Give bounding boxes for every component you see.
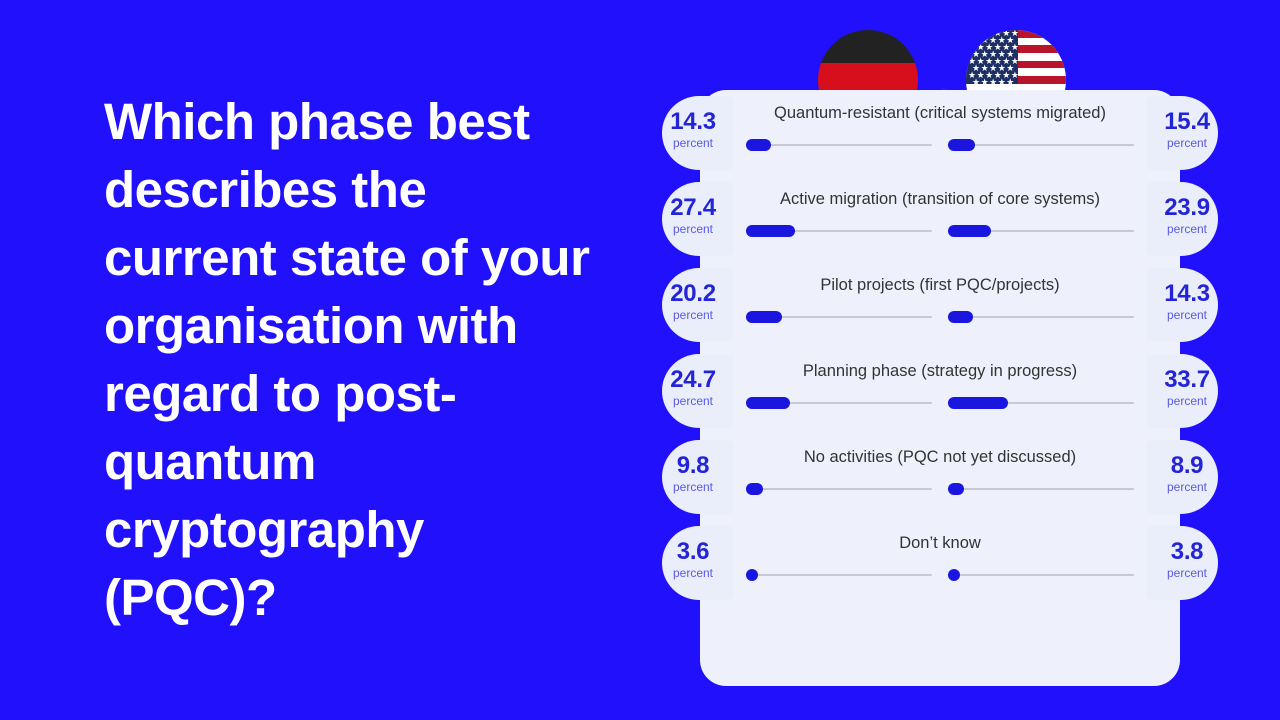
usa-percent-unit: percent xyxy=(1146,565,1218,581)
result-row: 9.8percent8.9percentNo activities (PQC n… xyxy=(700,434,1180,520)
usa-slider[interactable] xyxy=(948,397,1134,409)
result-row: 20.2percent14.3percentPilot projects (fi… xyxy=(700,262,1180,348)
germany-slider-fill[interactable] xyxy=(746,311,782,323)
usa-percent-badge: 3.8percent xyxy=(1146,526,1218,600)
usa-slider[interactable] xyxy=(948,569,1134,581)
germany-slider-fill[interactable] xyxy=(746,139,771,151)
usa-slider-fill[interactable] xyxy=(948,225,991,237)
germany-slider[interactable] xyxy=(746,139,932,151)
usa-slider[interactable] xyxy=(948,311,1134,323)
results-row-list: 14.3percent15.4percentQuantum-resistant … xyxy=(700,90,1180,606)
card-edge-notch xyxy=(1180,170,1218,182)
slider-pair xyxy=(746,483,1134,495)
germany-percent-badge: 27.4percent xyxy=(662,182,734,256)
card-edge-notch xyxy=(1180,256,1218,268)
usa-percent-value: 15.4 xyxy=(1146,110,1218,134)
germany-percent-unit: percent xyxy=(662,393,734,409)
usa-slider-track xyxy=(948,488,1134,490)
answer-label: No activities (PQC not yet discussed) xyxy=(746,446,1134,468)
germany-percent-badge: 9.8percent xyxy=(662,440,734,514)
germany-percent-unit: percent xyxy=(662,307,734,323)
germany-slider-fill[interactable] xyxy=(746,397,790,409)
usa-percent-badge: 14.3percent xyxy=(1146,268,1218,342)
germany-slider[interactable] xyxy=(746,225,932,237)
card-edge-notch xyxy=(1180,514,1218,526)
page-title: Which phase best describes the current s… xyxy=(104,88,604,632)
usa-percent-unit: percent xyxy=(1146,479,1218,495)
usa-slider[interactable] xyxy=(948,139,1134,151)
usa-percent-badge: 15.4percent xyxy=(1146,96,1218,170)
germany-percent-value: 14.3 xyxy=(662,110,734,134)
germany-slider-track xyxy=(746,488,932,490)
card-edge-notch xyxy=(662,428,700,440)
usa-percent-badge: 23.9percent xyxy=(1146,182,1218,256)
slider-pair xyxy=(746,139,1134,151)
usa-percent-value: 23.9 xyxy=(1146,196,1218,220)
card-edge-notch xyxy=(662,342,700,354)
germany-slider-fill[interactable] xyxy=(746,225,795,237)
slider-pair xyxy=(746,397,1134,409)
germany-percent-badge: 24.7percent xyxy=(662,354,734,428)
usa-slider[interactable] xyxy=(948,225,1134,237)
germany-slider[interactable] xyxy=(746,569,932,581)
usa-slider-track xyxy=(948,316,1134,318)
germany-percent-badge: 14.3percent xyxy=(662,96,734,170)
result-row: 3.6percent3.8percentDon’t know xyxy=(700,520,1180,606)
result-row: 27.4percent23.9percentActive migration (… xyxy=(700,176,1180,262)
usa-slider-fill[interactable] xyxy=(948,483,964,495)
result-row: 24.7percent33.7percentPlanning phase (st… xyxy=(700,348,1180,434)
germany-percent-value: 20.2 xyxy=(662,282,734,306)
germany-slider-track xyxy=(746,574,932,576)
usa-slider-fill[interactable] xyxy=(948,311,973,323)
usa-flag-canton: ★★★★★★ ★★★★★ ★★★★★★ ★★★★★ ★★★★★★ ★★★★★ ★… xyxy=(966,30,1018,84)
germany-percent-unit: percent xyxy=(662,565,734,581)
germany-flag-black-band xyxy=(818,30,918,63)
usa-percent-unit: percent xyxy=(1146,221,1218,237)
usa-percent-value: 8.9 xyxy=(1146,454,1218,478)
answer-label: Pilot projects (first PQC/projects) xyxy=(746,274,1134,296)
slider-pair xyxy=(746,225,1134,237)
usa-percent-value: 14.3 xyxy=(1146,282,1218,306)
usa-percent-unit: percent xyxy=(1146,307,1218,323)
card-edge-notch xyxy=(662,256,700,268)
usa-slider[interactable] xyxy=(948,483,1134,495)
germany-slider-fill[interactable] xyxy=(746,483,763,495)
germany-percent-badge: 20.2percent xyxy=(662,268,734,342)
germany-slider-track xyxy=(746,144,932,146)
usa-percent-value: 3.8 xyxy=(1146,540,1218,564)
slider-pair xyxy=(746,569,1134,581)
answer-label: Quantum-resistant (critical systems migr… xyxy=(746,102,1134,124)
germany-percent-unit: percent xyxy=(662,479,734,495)
card-edge-notch xyxy=(662,170,700,182)
usa-percent-unit: percent xyxy=(1146,135,1218,151)
germany-percent-unit: percent xyxy=(662,135,734,151)
usa-percent-unit: percent xyxy=(1146,393,1218,409)
germany-slider-fill[interactable] xyxy=(746,569,758,581)
answer-label: Active migration (transition of core sys… xyxy=(746,188,1134,210)
germany-slider[interactable] xyxy=(746,311,932,323)
card-edge-notch xyxy=(1180,342,1218,354)
results-card: 14.3percent15.4percentQuantum-resistant … xyxy=(700,90,1180,686)
germany-percent-value: 24.7 xyxy=(662,368,734,392)
germany-slider[interactable] xyxy=(746,397,932,409)
germany-percent-badge: 3.6percent xyxy=(662,526,734,600)
usa-slider-fill[interactable] xyxy=(948,139,975,151)
germany-percent-value: 27.4 xyxy=(662,196,734,220)
usa-percent-badge: 33.7percent xyxy=(1146,354,1218,428)
usa-slider-track xyxy=(948,144,1134,146)
germany-percent-value: 3.6 xyxy=(662,540,734,564)
germany-slider[interactable] xyxy=(746,483,932,495)
usa-slider-fill[interactable] xyxy=(948,397,1008,409)
result-row: 14.3percent15.4percentQuantum-resistant … xyxy=(700,90,1180,176)
germany-percent-unit: percent xyxy=(662,221,734,237)
usa-slider-fill[interactable] xyxy=(948,569,960,581)
answer-label: Don’t know xyxy=(746,532,1134,554)
slider-pair xyxy=(746,311,1134,323)
card-edge-notch xyxy=(1180,428,1218,440)
germany-percent-value: 9.8 xyxy=(662,454,734,478)
usa-percent-value: 33.7 xyxy=(1146,368,1218,392)
usa-slider-track xyxy=(948,574,1134,576)
card-edge-notch xyxy=(662,514,700,526)
usa-percent-badge: 8.9percent xyxy=(1146,440,1218,514)
answer-label: Planning phase (strategy in progress) xyxy=(746,360,1134,382)
